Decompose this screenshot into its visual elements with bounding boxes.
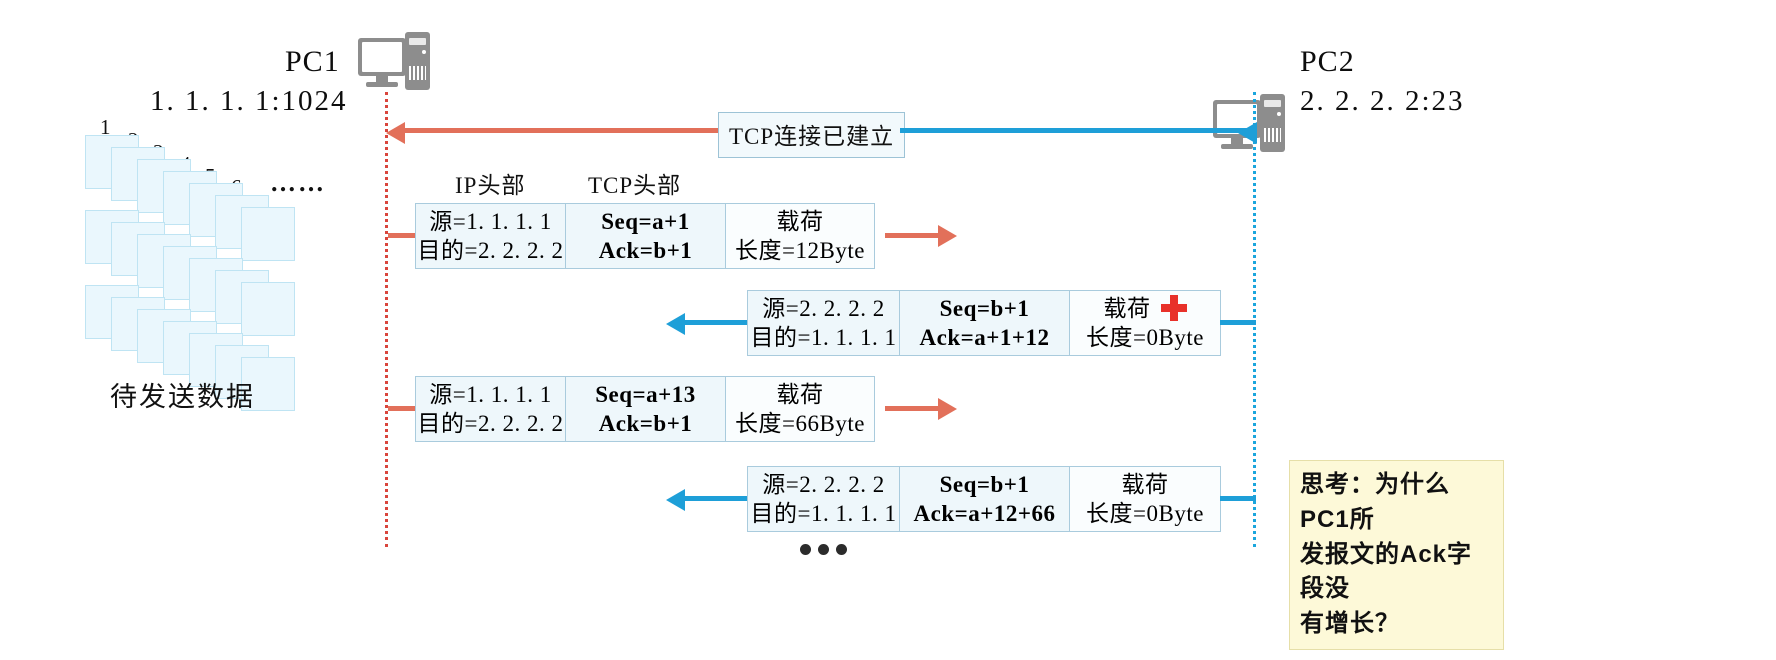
packet-1-tail-line — [388, 233, 416, 238]
packet-2-arrow-line — [684, 320, 748, 325]
packet-3-tail-line — [388, 406, 416, 411]
note-line-1: 思考：为什么PC1所 — [1300, 468, 1493, 538]
packet-3-tcp-cell: Seq=a+13 Ack=b+1 — [566, 377, 726, 441]
pending-data-stack: 1 2 3 4 5 6 …… — [85, 110, 385, 370]
pc2-address: 2. 2. 2. 2:23 — [1300, 85, 1465, 118]
packet-4-ip-cell: 源=2. 2. 2. 2 目的=1. 1. 1. 1 — [748, 467, 900, 531]
packet-2-tcp-cell: Seq=b+1 Ack=a+1+12 — [900, 291, 1070, 355]
red-cross-icon — [1161, 295, 1187, 321]
packet-1-ip-cell: 源=1. 1. 1. 1 目的=2. 2. 2. 2 — [416, 204, 566, 268]
computer-icon — [358, 32, 430, 94]
pc2-label: PC2 — [1300, 45, 1355, 79]
packet-3[interactable]: 源=1. 1. 1. 1 目的=2. 2. 2. 2 Seq=a+13 Ack=… — [415, 376, 875, 442]
packet-1-payload-cell: 载荷 长度=12Byte — [726, 204, 874, 268]
packet-4-arrowhead — [666, 489, 685, 511]
packet-4-payload-cell: 载荷 长度=0Byte — [1070, 467, 1220, 531]
packet-4-arrow-line — [684, 496, 748, 501]
tcp-established-blue-arrowhead — [1238, 122, 1257, 144]
tcp-established-banner: TCP连接已建立 — [718, 112, 905, 158]
packet-1-tcp-cell: Seq=a+1 Ack=b+1 — [566, 204, 726, 268]
packet-2-arrowhead — [666, 313, 685, 335]
packet-2-tail-line — [1220, 320, 1256, 325]
pc1-label: PC1 — [285, 45, 340, 79]
packet-4-tcp-cell: Seq=b+1 Ack=a+12+66 — [900, 467, 1070, 531]
note-line-3: 有增长？ — [1300, 607, 1493, 642]
stack-caption: 待发送数据 — [110, 375, 255, 414]
thought-question-note: 思考：为什么PC1所 发报文的Ack字段没 有增长？ — [1289, 460, 1504, 650]
packet-3-arrowhead — [938, 398, 957, 420]
ip-header-label: IP头部 — [455, 166, 525, 200]
tcp-established-blue-line — [900, 128, 1252, 133]
sequence-continues-ellipsis — [800, 544, 847, 555]
packet-1-arrowhead — [938, 225, 957, 247]
packet-1[interactable]: 源=1. 1. 1. 1 目的=2. 2. 2. 2 Seq=a+1 Ack=b… — [415, 203, 875, 269]
packet-2-ip-cell: 源=2. 2. 2. 2 目的=1. 1. 1. 1 — [748, 291, 900, 355]
packet-4[interactable]: 源=2. 2. 2. 2 目的=1. 1. 1. 1 Seq=b+1 Ack=a… — [747, 466, 1221, 532]
note-line-2: 发报文的Ack字段没 — [1300, 538, 1493, 608]
packet-4-tail-line — [1220, 496, 1256, 501]
packet-2-payload-cell: 载荷 长度=0Byte — [1070, 291, 1220, 355]
packet-3-ip-cell: 源=1. 1. 1. 1 目的=2. 2. 2. 2 — [416, 377, 566, 441]
pc1-lifeline — [385, 92, 388, 547]
tcp-established-red-arrowhead — [386, 122, 405, 144]
tcp-header-label: TCP头部 — [588, 166, 681, 200]
packet-3-payload-cell: 载荷 长度=66Byte — [726, 377, 874, 441]
stack-ellipsis: …… — [270, 168, 326, 198]
packet-2[interactable]: 源=2. 2. 2. 2 目的=1. 1. 1. 1 Seq=b+1 Ack=a… — [747, 290, 1221, 356]
tcp-established-red-line — [400, 128, 718, 133]
